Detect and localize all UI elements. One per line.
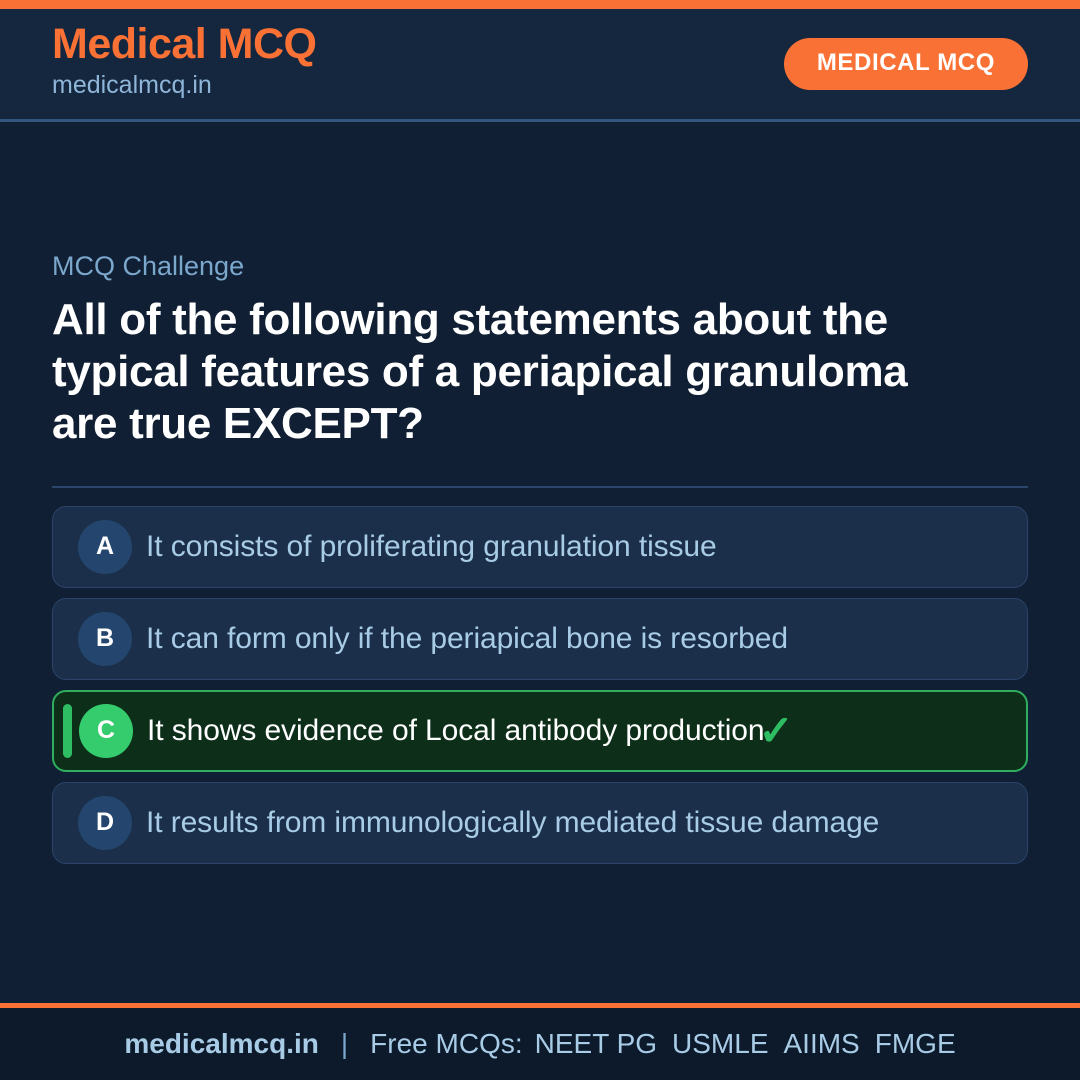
option-c[interactable]: C It shows evidence of Local antibody pr… bbox=[52, 690, 1028, 772]
brand-title: Medical MCQ bbox=[52, 23, 317, 67]
option-b-text: It can form only if the periapical bone … bbox=[146, 623, 788, 655]
correct-accent-bar bbox=[63, 704, 72, 758]
kicker-label: MCQ Challenge bbox=[52, 253, 1028, 280]
option-c-letter: C bbox=[79, 704, 133, 758]
header-badge: MEDICAL MCQ bbox=[784, 38, 1028, 90]
question-text: All of the following statements about th… bbox=[52, 294, 982, 450]
footer-exam-usmle: USMLE bbox=[672, 1028, 768, 1060]
option-a-text: It consists of proliferating granulation… bbox=[146, 531, 717, 563]
footer-exam-aiims: AIIMS bbox=[784, 1028, 860, 1060]
option-c-text: It shows evidence of Local antibody prod… bbox=[147, 715, 764, 747]
option-a-letter: A bbox=[78, 520, 132, 574]
main-content: MCQ Challenge All of the following state… bbox=[0, 122, 1080, 1003]
correct-check-icon: ✓ bbox=[758, 710, 793, 752]
option-d-text: It results from immunologically mediated… bbox=[146, 807, 879, 839]
mcq-card: Medical MCQ medicalmcq.in MEDICAL MCQ MC… bbox=[0, 0, 1080, 1080]
option-b[interactable]: B It can form only if the periapical bon… bbox=[52, 598, 1028, 680]
option-d[interactable]: D It results from immunologically mediat… bbox=[52, 782, 1028, 864]
option-b-letter: B bbox=[78, 612, 132, 666]
footer-text: medicalmcq.in | Free MCQs: NEET PG USMLE… bbox=[124, 1028, 955, 1060]
header: Medical MCQ medicalmcq.in MEDICAL MCQ bbox=[0, 9, 1080, 122]
brand-subtitle: medicalmcq.in bbox=[52, 69, 317, 103]
footer-separator: | bbox=[341, 1028, 348, 1060]
footer: medicalmcq.in | Free MCQs: NEET PG USMLE… bbox=[0, 1003, 1080, 1080]
footer-label: Free MCQs: bbox=[370, 1028, 522, 1060]
footer-site: medicalmcq.in bbox=[124, 1028, 319, 1060]
options-list: A It consists of proliferating granulati… bbox=[52, 506, 1028, 864]
footer-exam-neetpg: NEET PG bbox=[535, 1028, 657, 1060]
question-divider bbox=[52, 486, 1028, 488]
footer-exam-fmge: FMGE bbox=[875, 1028, 956, 1060]
top-accent-bar bbox=[0, 0, 1080, 9]
option-a[interactable]: A It consists of proliferating granulati… bbox=[52, 506, 1028, 588]
option-d-letter: D bbox=[78, 796, 132, 850]
brand-block: Medical MCQ medicalmcq.in bbox=[52, 23, 317, 103]
